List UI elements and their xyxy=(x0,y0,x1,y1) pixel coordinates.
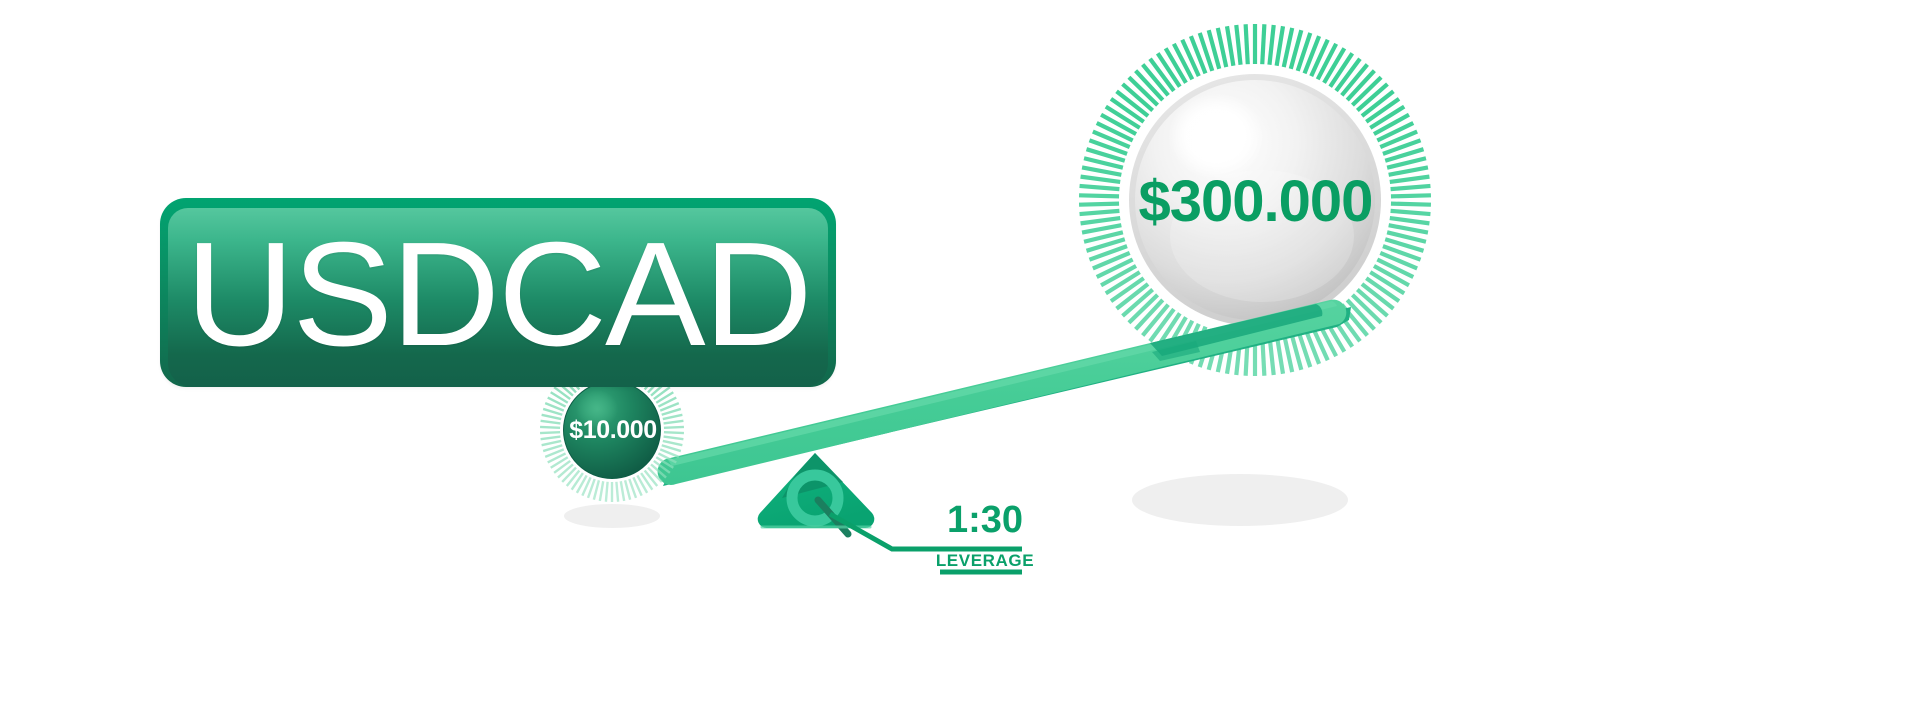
shadow-under-small-sphere xyxy=(564,504,660,528)
shadow-under-large-sphere xyxy=(1132,474,1348,526)
large-sphere-value: $300.000 xyxy=(1103,166,1408,236)
leverage-ratio-value: 1:30 xyxy=(940,500,1030,540)
small-sphere-value: $10.000 xyxy=(548,412,678,448)
fulcrum xyxy=(758,453,875,534)
illustration-canvas: USDCAD $300.000 $10.000 1:30 LEVERAGE xyxy=(0,0,1920,720)
badge-symbol-label: USDCAD xyxy=(153,200,843,389)
leverage-caption: LEVERAGE xyxy=(925,551,1045,571)
currency-pair-badge[interactable]: USDCAD xyxy=(160,198,836,387)
